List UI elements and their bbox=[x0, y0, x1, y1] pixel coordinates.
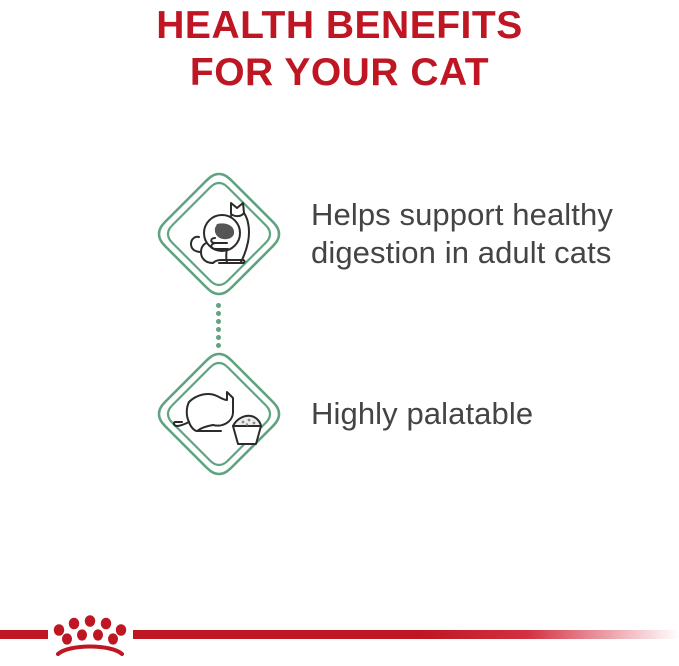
footer-rule-right bbox=[133, 630, 679, 639]
benefit-text: Helps support healthy digestion in adult… bbox=[311, 196, 671, 272]
benefit-item: Highly palatable bbox=[0, 340, 679, 488]
dotted-connector bbox=[216, 303, 222, 345]
cat-digestion-icon bbox=[155, 170, 283, 298]
footer-brand-bar bbox=[0, 600, 679, 666]
benefit-item: Helps support healthy digestion in adult… bbox=[0, 160, 679, 308]
connector-dot bbox=[216, 311, 221, 316]
royal-canin-crown-logo bbox=[45, 608, 135, 658]
connector-dot bbox=[216, 327, 221, 332]
benefits-list: Helps support healthy digestion in adult… bbox=[0, 160, 679, 500]
title-line-2: FOR YOUR CAT bbox=[0, 49, 679, 96]
footer-rule-left bbox=[0, 630, 48, 639]
cat-eating-bowl-icon bbox=[155, 350, 283, 478]
connector-dot bbox=[216, 319, 221, 324]
connector-dot bbox=[216, 303, 221, 308]
title-line-1: HEALTH BENEFITS bbox=[0, 2, 679, 49]
benefit-text: Highly palatable bbox=[311, 395, 533, 433]
page-title: HEALTH BENEFITS FOR YOUR CAT bbox=[0, 2, 679, 96]
